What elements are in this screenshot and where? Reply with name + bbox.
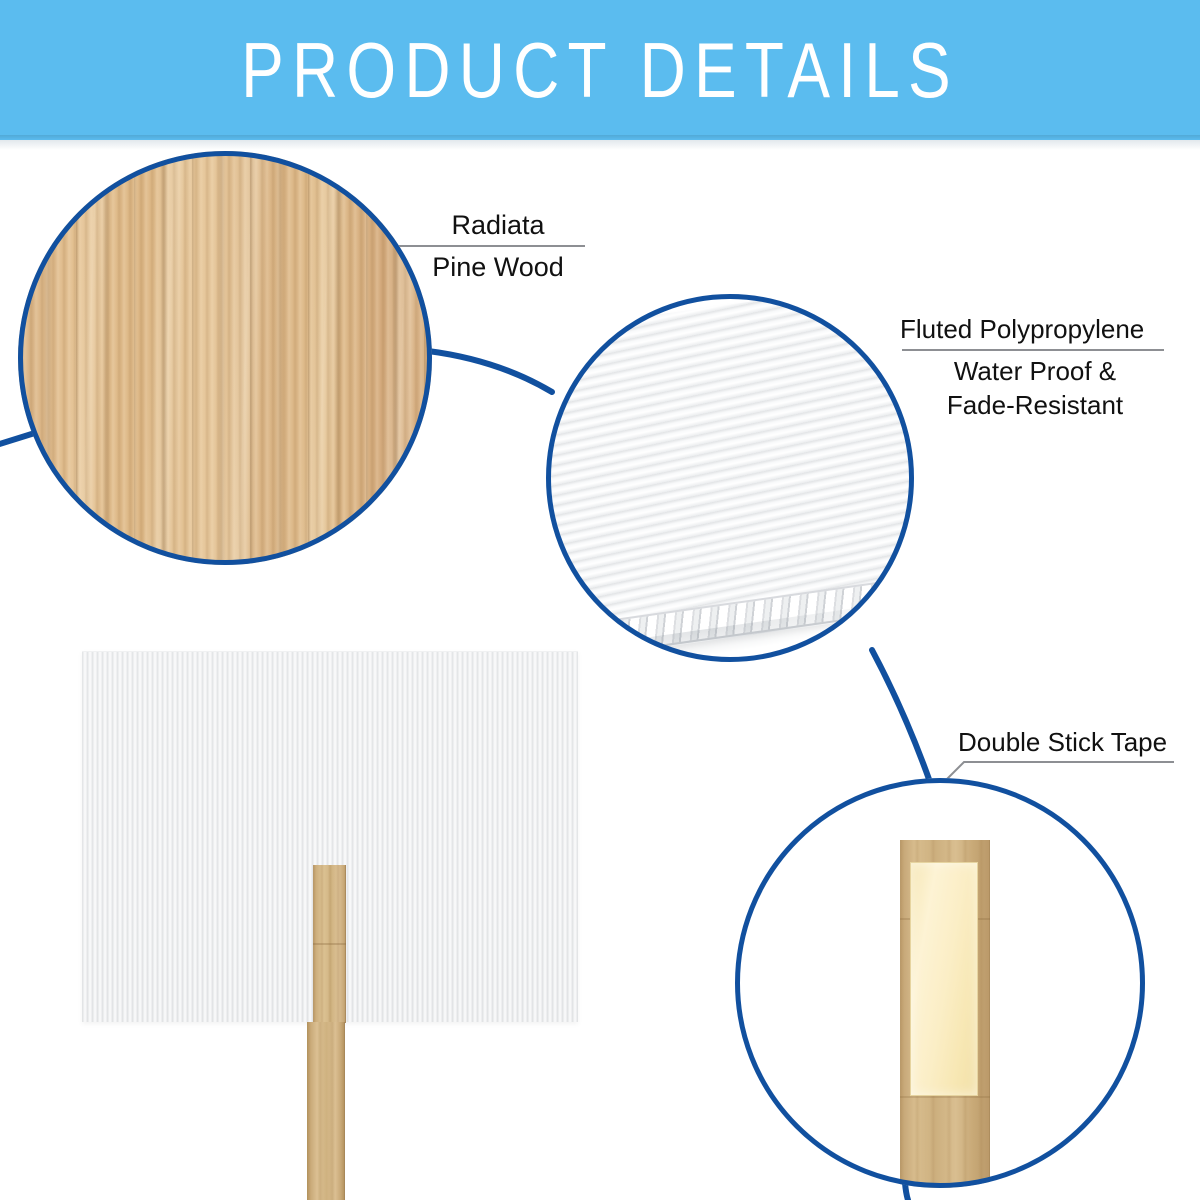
wooden-stake-lower-section bbox=[307, 1022, 345, 1200]
product-details-infographic: PRODUCT DETAILS Radiata Pine Wood Fluted… bbox=[0, 0, 1200, 1200]
label-water-proof: Water Proof & bbox=[900, 354, 1170, 388]
callout-ring-double-stick-tape bbox=[735, 778, 1145, 1188]
wooden-stake-notch bbox=[313, 943, 346, 945]
connector-flute-to-tape bbox=[872, 650, 930, 782]
header-shadow-divider bbox=[0, 140, 1200, 150]
callout-label-double-stick-tape: Double Stick Tape bbox=[958, 726, 1188, 759]
callout-ring-fluted-polypropylene bbox=[546, 294, 914, 662]
label-fade-resistant: Fade-Resistant bbox=[900, 388, 1170, 422]
callout-label-radiata-pine-wood: Radiata Pine Wood bbox=[398, 208, 598, 285]
label-rule-fluted-polypropylene bbox=[902, 349, 1164, 351]
connector-wood-to-flute bbox=[428, 351, 552, 392]
label-radiata: Radiata bbox=[398, 208, 598, 242]
label-pine-wood: Pine Wood bbox=[398, 249, 598, 285]
label-double-stick-tape: Double Stick Tape bbox=[958, 726, 1188, 759]
header-band: PRODUCT DETAILS bbox=[0, 0, 1200, 140]
label-leader-double-stick-tape bbox=[946, 762, 1174, 780]
page-title: PRODUCT DETAILS bbox=[108, 18, 1092, 122]
label-fluted-polypropylene: Fluted Polypropylene bbox=[900, 313, 1170, 346]
label-rule-radiata bbox=[399, 245, 585, 247]
callout-ring-radiata-pine-wood bbox=[18, 151, 432, 565]
callout-label-fluted-polypropylene: Fluted Polypropylene Water Proof & Fade-… bbox=[900, 313, 1170, 422]
